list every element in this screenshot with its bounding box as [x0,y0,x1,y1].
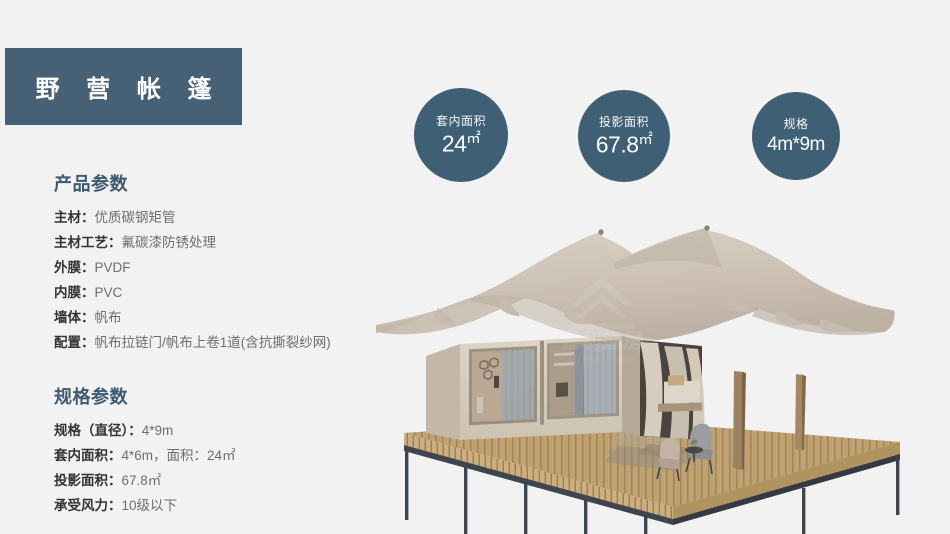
spec-label: 墙体： [54,310,95,325]
spec-value: 帆布 [95,310,122,325]
spec-value: 4*9m [142,423,174,438]
spec-row: 墙体：帆布 [54,305,384,330]
spec-row: 承受风力：10级以下 [54,493,384,518]
badge-value: 67.8㎡ [596,133,653,157]
spec-value: PVDF [95,260,131,275]
spec-label: 承受风力： [54,498,122,513]
page-title: 野 营 帐 篷 [25,69,221,104]
product-spec-page: 野 营 帐 篷 套内面积 24㎡ 投影面积 67.8㎡ 规格 4m*9m 产品参… [0,0,950,534]
svg-text:XUELI TENT: XUELI TENT [566,354,638,364]
spec-value: 氟碳漆防锈处理 [122,235,217,250]
badge-caption: 投影面积 [599,116,649,128]
spec-row: 套内面积：4*6m，面积：24㎡ [54,443,384,468]
badge-projected-area: 投影面积 67.8㎡ [578,90,670,182]
badge-caption: 规格 [783,118,808,130]
spec-value: 帆布拉链门/帆布上卷1道(含抗撕裂纱网) [95,335,331,350]
svg-text:雪利篷房: 雪利篷房 [560,329,644,353]
spec-row: 内膜：PVC [54,280,384,305]
spec-label: 主材： [54,210,95,225]
spec-row: 外膜：PVDF [54,255,384,280]
spec-value: PVC [95,285,123,300]
spec-value: 优质碳钢矩管 [95,210,176,225]
spec-label: 内膜： [54,285,95,300]
spec-value: 10级以下 [122,498,178,513]
spec-label: 套内面积： [54,448,122,463]
spec-value: 4*6m，面积：24㎡ [122,448,236,463]
spec-label: 主材工艺： [54,235,122,250]
spec-row: 规格（直径）：4*9m [54,418,384,443]
spec-label: 外膜： [54,260,95,275]
badge-value: 4m*9m [767,135,825,154]
badge-interior-area: 套内面积 24㎡ [414,88,508,182]
spec-label: 投影面积： [54,473,122,488]
tent-product-image: 雪利篷房 XUELI TENT [372,196,950,534]
spec-panel: 产品参数 主材：优质碳钢矩管 主材工艺：氟碳漆防锈处理 外膜：PVDF 内膜：P… [54,170,384,518]
spec-row: 配置：帆布拉链门/帆布上卷1道(含抗撕裂纱网) [54,330,384,355]
badge-caption: 套内面积 [436,115,486,127]
section-heading-dimensions: 规格参数 [54,383,384,409]
section-heading-product: 产品参数 [54,170,384,196]
spec-label: 配置： [54,335,95,350]
spec-row: 主材工艺：氟碳漆防锈处理 [54,230,384,255]
page-title-banner: 野 营 帐 篷 [5,48,242,125]
spec-label: 规格（直径）： [54,423,142,438]
spec-row: 主材：优质碳钢矩管 [54,205,384,230]
badge-value: 24㎡ [442,132,480,156]
spec-value: 67.8㎡ [122,473,162,488]
badge-dimensions: 规格 4m*9m [752,92,840,180]
spec-row: 投影面积：67.8㎡ [54,468,384,493]
